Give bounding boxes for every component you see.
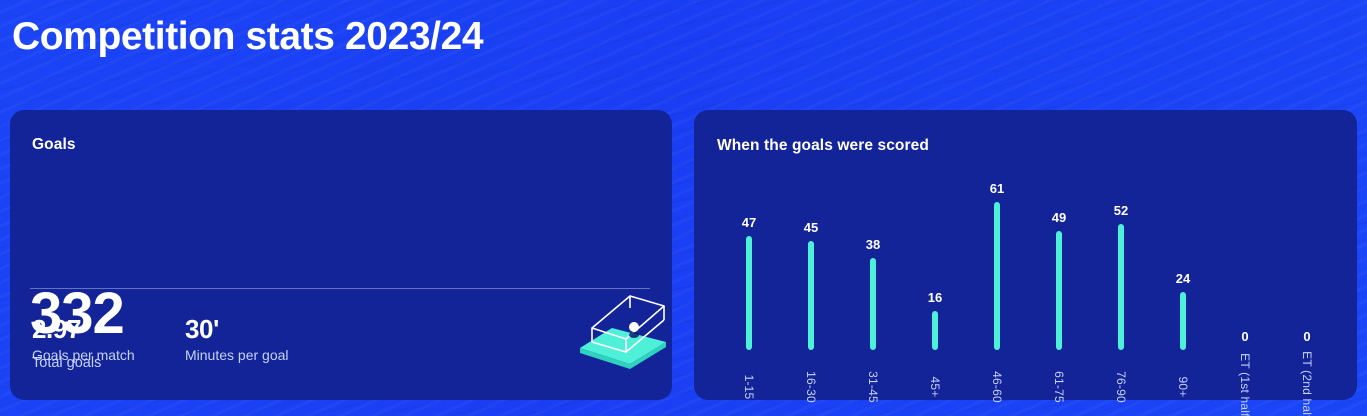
bar-column[interactable]: 3831-45	[846, 166, 900, 396]
metric-goals-per-match-label: Goals per match	[32, 347, 135, 363]
bar-shape[interactable]	[932, 311, 938, 350]
bar-column[interactable]: 2490+	[1156, 166, 1210, 396]
bar-column[interactable]: 0ET (2nd half)	[1280, 166, 1334, 396]
bar-value-label: 24	[1156, 272, 1210, 285]
bar-shape[interactable]	[870, 258, 876, 350]
bar-column[interactable]: 6146-60	[970, 166, 1024, 396]
bar-category-label: 76-90	[1114, 371, 1128, 403]
goals-card-title: Goals	[32, 136, 76, 154]
bar-category-label: 1-15	[742, 375, 756, 400]
goal-net-icon	[568, 290, 678, 370]
bar-value-label: 61	[970, 182, 1024, 195]
competition-stats-page: Competition stats 2023/24 Goals 332 Tota…	[0, 0, 1367, 416]
bar-category-label: ET (1st half)	[1238, 353, 1252, 416]
metric-goals-per-match: 2.97 Goals per match	[32, 315, 135, 363]
bar-value-label: 0	[1280, 330, 1334, 343]
bar-shape[interactable]	[1056, 231, 1062, 350]
bar-shape[interactable]	[1180, 292, 1186, 350]
bar-value-label: 52	[1094, 204, 1148, 217]
bar-value-label: 38	[846, 238, 900, 251]
metric-goals-per-match-value: 2.97	[32, 315, 135, 344]
metric-minutes-per-goal: 30' Minutes per goal	[185, 315, 289, 363]
goals-card: Goals 332 Total goals 2.97	[10, 110, 672, 400]
bar-value-label: 47	[722, 216, 776, 229]
bar-category-label: 31-45	[866, 371, 880, 403]
goal-timing-bar-chart: 471-154516-303831-451645+6146-604961-755…	[718, 166, 1338, 396]
bar-category-label: 45+	[928, 377, 942, 398]
bar-category-label: 61-75	[1052, 371, 1066, 403]
page-title: Competition stats 2023/24	[12, 16, 483, 59]
bar-value-label: 45	[784, 221, 838, 234]
metric-minutes-per-goal-label: Minutes per goal	[185, 347, 289, 363]
bar-column[interactable]: 4961-75	[1032, 166, 1086, 396]
bar-column[interactable]: 0ET (1st half)	[1218, 166, 1272, 396]
bar-value-label: 49	[1032, 211, 1086, 224]
goals-card-divider	[30, 288, 650, 289]
goal-timing-card: When the goals were scored 471-154516-30…	[694, 110, 1357, 400]
metric-minutes-per-goal-value: 30'	[185, 315, 289, 344]
bar-column[interactable]: 4516-30	[784, 166, 838, 396]
bar-category-label: 16-30	[804, 371, 818, 403]
bar-shape[interactable]	[994, 202, 1000, 350]
bar-category-label: ET (2nd half)	[1300, 351, 1314, 416]
bar-value-label: 16	[908, 291, 962, 304]
bar-column[interactable]: 5276-90	[1094, 166, 1148, 396]
bar-category-label: 46-60	[990, 371, 1004, 403]
bar-shape[interactable]	[1118, 224, 1124, 350]
bar-shape[interactable]	[808, 241, 814, 350]
bar-column[interactable]: 471-15	[722, 166, 776, 396]
goal-timing-card-title: When the goals were scored	[717, 137, 929, 155]
bar-value-label: 0	[1218, 330, 1272, 343]
bar-category-label: 90+	[1176, 377, 1190, 398]
bar-column[interactable]: 1645+	[908, 166, 962, 396]
bar-shape[interactable]	[746, 236, 752, 350]
